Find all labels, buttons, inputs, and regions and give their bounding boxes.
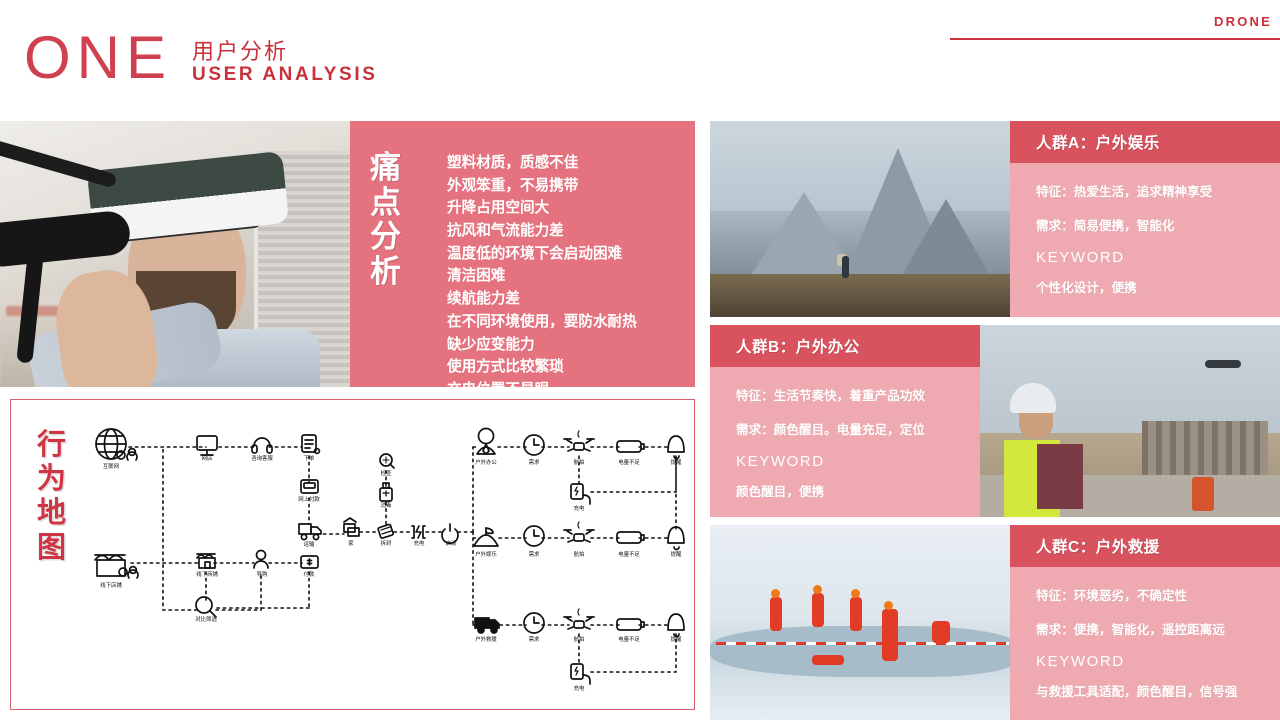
shop-users-icon [95,555,138,578]
unpack-icon [378,524,394,538]
behavior-map-panel: 行为地图 [10,399,695,710]
drone-icon [564,522,594,542]
drone-icon [564,609,594,629]
node-label: 线下店铺 [100,581,122,589]
node-label: 提醒 [671,458,682,466]
segment-a-trait: 特征：热爱生活，追求精神享受 [1036,181,1262,200]
photo-rescuer [812,593,824,627]
home-box-icon [344,518,359,536]
node-label: 启动 [446,539,457,547]
tent-icon [474,528,498,546]
shop-icon [197,554,215,568]
pain-point-item: 温度低的环境下会启动困难 [447,243,687,266]
segment-b-keyword-label: KEYWORD [736,453,967,470]
globe-users-icon [96,429,137,460]
node-label: 需求 [529,458,540,466]
node-label: 充电 [414,539,425,547]
segment-c-trait: 特征：环境恶劣，不确定性 [1036,585,1262,604]
node-label: 消毒 [381,501,392,509]
node-labels: 互联网 网店 咨询客服 下单 网上付款 运输 线下店铺 线下商铺 导购 付款 对… [100,454,682,692]
bell-icon [668,614,684,637]
photo-ridge [710,274,1010,317]
page-title-cn: 用户分析 [192,34,288,66]
clock-icon [524,526,544,546]
segment-b-panel: 人群B：户外办公 特征：生活节奏快，着重产品功效 需求：颜色醒目。电量充足，定位… [710,325,985,517]
page-title-en: USER ANALYSIS [192,64,378,86]
segment-a-keyword-label: KEYWORD [1036,249,1262,266]
segment-card-a: 人群A：户外娱乐 特征：热爱生活，追求精神享受 需求：简易便携，智能化 KEYW… [710,121,1280,317]
segment-b-need: 需求：颜色醒目。电量充足，定位 [736,419,967,438]
pain-point-item: 在不同环境使用，要防水耐热 [447,311,687,334]
node-label: 导购 [257,570,268,578]
photo-drone [1205,360,1241,368]
pain-point-title: 痛点分析 [370,151,414,290]
segment-card-c: 人群C：户外救援 特征：环境恶劣，不确定性 需求：便携，智能化，遥控距离远 KE… [710,525,1280,720]
node-label: 户外娱乐 [475,550,497,558]
node-label: 对比筛选 [195,615,217,623]
node-label: 电量不足 [618,458,640,466]
clock-icon [524,435,544,455]
monitor-icon [197,436,217,455]
segment-b-heading: 人群B：户外办公 [710,325,985,367]
node-label: 下单 [304,454,315,462]
photo-survey-tripod [1192,477,1214,511]
node-label: 付款 [304,570,315,578]
photo-rescuer-helmet [813,585,822,594]
segment-c-need: 需求：便携，智能化，遥控距离远 [1036,619,1262,638]
headset-icon [252,438,272,453]
pain-point-item: 外观笨重，不易携带 [447,175,687,198]
segment-a-keywords: 个性化设计，便携 [1036,277,1262,296]
node-label: 互联网 [103,462,119,470]
node-label: 网店 [202,454,213,462]
behavior-map-diagram: 互联网 网店 咨询客服 下单 网上付款 运输 线下店铺 线下商铺 导购 付款 对… [11,400,693,708]
node-label: 咨询客服 [251,454,273,462]
bell-icon [668,436,684,459]
pain-point-panel: 痛点分析 塑料材质，质感不佳 外观笨重，不易携带 升降占用空间大 抗风和气流能力… [350,121,695,387]
charger-plug-icon [571,484,590,504]
segment-b-trait: 特征：生活节奏快，着重产品功效 [736,385,967,404]
node-label: 线下商铺 [196,570,218,578]
segment-a-heading: 人群A：户外娱乐 [1010,121,1280,163]
photo-rescuer-helmet [851,589,860,598]
inspect-icon [380,454,394,468]
node-label: 提醒 [671,550,682,558]
node-label: 需求 [529,550,540,558]
photo-worker-shirt [1037,444,1083,509]
charge-icon [412,526,425,538]
segment-a-need: 需求：简易便携，智能化 [1036,215,1262,234]
segment-b-photo [980,325,1280,517]
node-label: 航拍 [574,635,585,643]
section-number: ONE [24,28,172,88]
node-label: 需求 [529,635,540,643]
pain-point-item: 塑料材质，质感不佳 [447,152,687,175]
segment-c-heading: 人群C：户外救援 [1010,525,1280,567]
photo-rescuer-bending [932,621,950,643]
drone-icon [564,431,594,451]
money-card-icon [301,556,318,568]
truck-icon [299,524,321,540]
pain-point-item: 升降占用空间大 [447,197,687,220]
pain-point-item: 抗风和气流能力差 [447,220,687,243]
node-label: 电量不足 [618,635,640,643]
node-label: 运输 [304,540,315,548]
rescue-truck-icon [475,618,499,633]
header-rule [950,38,1280,40]
segment-a-panel: 人群A：户外娱乐 特征：热爱生活，追求精神享受 需求：简易便携，智能化 KEYW… [1010,121,1280,317]
segment-a-photo [710,121,1010,317]
charger-plug-icon [571,664,590,684]
photo-ice-hole [710,626,1015,677]
order-form-icon [302,435,319,453]
node-label: 充电 [574,504,585,512]
photo-hiker [842,256,849,278]
photo-rescuer [850,597,862,631]
node-label: 检查 [381,469,392,477]
node-label: 航拍 [574,550,585,558]
main-photo-vr-drone [0,121,350,387]
node-label: 提醒 [671,635,682,643]
photo-warning-tape [716,642,1009,645]
pain-point-item: 清洁困难 [447,265,687,288]
photo-victim-in-water [812,655,844,665]
segment-c-keyword-label: KEYWORD [1036,653,1262,670]
node-label: 户外办公 [475,458,497,466]
node-label: 家 [348,539,354,547]
node-label: 拆封 [381,539,392,547]
segment-c-keywords: 与救援工具适配，颜色醒目，信号强 [1036,681,1262,700]
clerk-icon [254,551,268,569]
node-label: 航拍 [574,458,585,466]
node-label: 电量不足 [618,550,640,558]
photo-rescuer-helmet [771,589,780,598]
clock-icon [524,613,544,633]
bell-icon [668,527,684,550]
node-label: 网上付款 [298,495,320,503]
segment-c-panel: 人群C：户外救援 特征：环境恶劣，不确定性 需求：便携，智能化，遥控距离远 KE… [1010,525,1280,720]
segment-c-photo [710,525,1015,720]
photo-rescuer [882,609,898,661]
photo-rescuer-helmet [884,601,893,610]
photo-rescuer [770,597,782,631]
pain-point-item: 续航能力差 [447,288,687,311]
photo-building [1142,421,1268,479]
person-icon [477,429,495,455]
pain-point-item: 缺少应变能力 [447,334,687,357]
pain-point-item: 使用方式比较繁琐 [447,356,687,379]
node-label: 充电 [574,684,585,692]
slide-root: DRONE ONE 用户分析 USER ANALYSIS 痛点分析 塑料材质，质… [0,0,1280,720]
node-label: 户外救援 [475,635,497,643]
segment-b-keywords: 颜色醒目，便携 [736,481,967,500]
corner-label: DRONE [1214,14,1272,29]
segment-card-b: 人群B：户外办公 特征：生活节奏快，着重产品功效 需求：颜色醒目。电量充足，定位… [710,325,1280,517]
pain-point-list: 塑料材质，质感不佳 外观笨重，不易携带 升降占用空间大 抗风和气流能力差 温度低… [447,152,687,402]
